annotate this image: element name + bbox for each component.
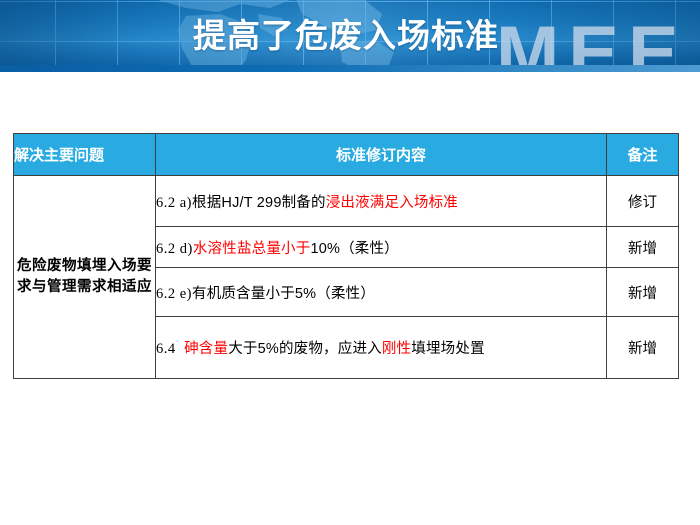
content-segment: 10%（柔性） [310, 241, 398, 257]
content-cell: 6.2 a)根据HJ/T 299制备的浸出液满足入场标准 [156, 176, 607, 227]
standard-revision-table: 解决主要问题 标准修订内容 备注 危险废物填埋入场要求与管理需求相适应 6.2 … [13, 133, 679, 379]
clause-number: 6.4 [156, 341, 176, 357]
table-row: 危险废物填埋入场要求与管理需求相适应 6.2 a)根据HJ/T 299制备的浸出… [14, 176, 679, 227]
page-title: 提高了危废入场标准 [0, 0, 700, 66]
content-cell: 6.4 砷含量大于5%的废物，应进入刚性填埋场处置 [156, 317, 607, 379]
content-segment: 根据HJ/T 299制备的 [192, 195, 326, 211]
table-body: 危险废物填埋入场要求与管理需求相适应 6.2 a)根据HJ/T 299制备的浸出… [14, 176, 679, 379]
revision-table-container: 解决主要问题 标准修订内容 备注 危险废物填埋入场要求与管理需求相适应 6.2 … [13, 133, 678, 379]
clause-number: 6.2 e) [156, 286, 192, 302]
slide-banner: MEE 提高了危废入场标准 [0, 0, 700, 72]
note-cell: 修订 [607, 176, 679, 227]
column-header-note: 备注 [607, 134, 679, 176]
clause-number: 6.2 d) [156, 241, 193, 257]
content-segment: 填埋场处置 [411, 341, 485, 357]
content-segment-highlight: 刚性 [382, 341, 411, 357]
content-segment: 有机质含量小于5%（柔性） [192, 286, 375, 302]
content-cell: 6.2 d)水溶性盐总量小于10%（柔性） [156, 227, 607, 268]
column-header-content: 标准修订内容 [156, 134, 607, 176]
column-header-issue: 解决主要问题 [14, 134, 156, 176]
banner-bottom-band [0, 65, 700, 72]
content-cell: 6.2 e)有机质含量小于5%（柔性） [156, 268, 607, 317]
table-header-row: 解决主要问题 标准修订内容 备注 [14, 134, 679, 176]
content-segment-highlight: 浸出液满足入场标准 [326, 195, 458, 211]
issue-cell: 危险废物填埋入场要求与管理需求相适应 [14, 176, 156, 379]
clause-spacer [176, 341, 184, 357]
content-segment: 大于5%的废物，应进入 [228, 341, 382, 357]
table-header: 解决主要问题 标准修订内容 备注 [14, 134, 679, 176]
note-cell: 新增 [607, 227, 679, 268]
clause-number: 6.2 a) [156, 195, 192, 211]
content-segment-highlight: 水溶性盐总量小于 [193, 241, 311, 257]
content-segment-highlight: 砷含量 [184, 341, 228, 357]
note-cell: 新增 [607, 317, 679, 379]
note-cell: 新增 [607, 268, 679, 317]
